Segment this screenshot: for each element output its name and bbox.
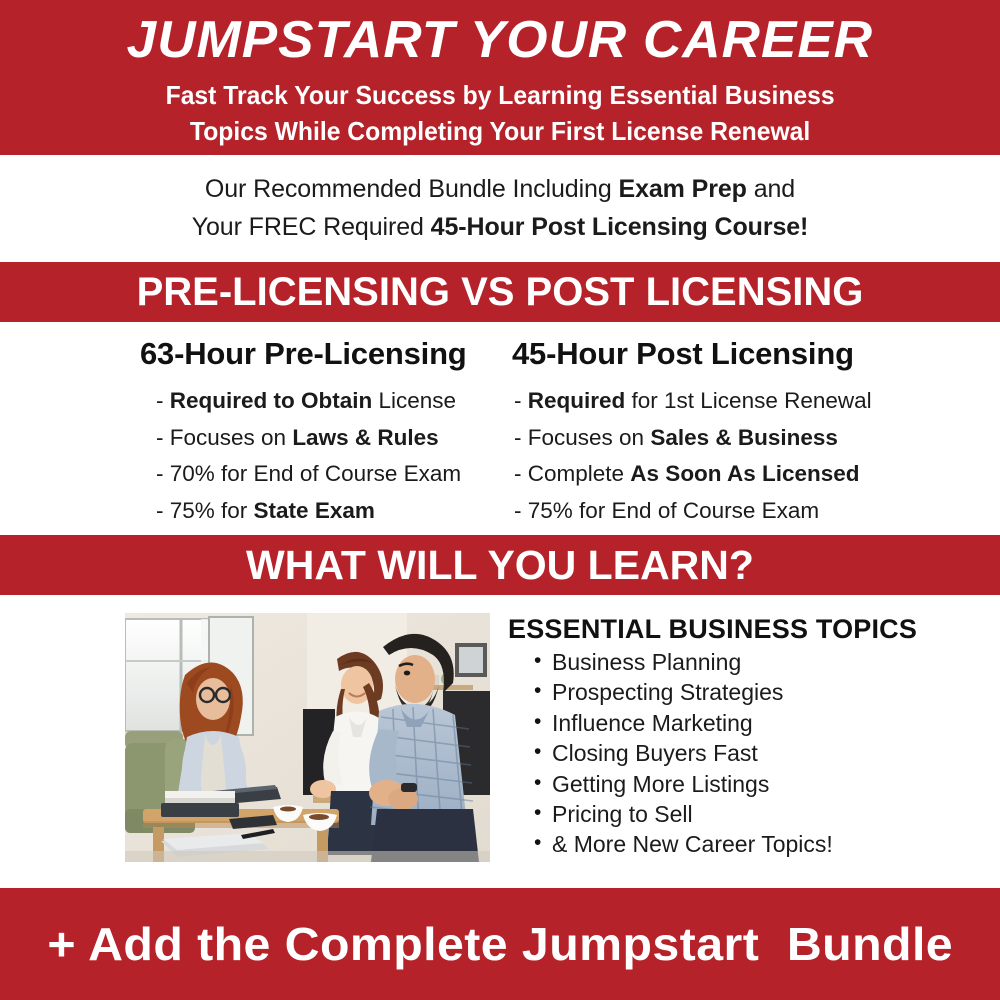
list-item: & More New Career Topics! bbox=[534, 829, 833, 859]
topics-list: Business Planning Prospecting Strategies… bbox=[534, 647, 833, 860]
item-bold: Laws & Rules bbox=[292, 425, 438, 450]
infographic-page: JUMPSTART YOUR CAREER Fast Track Your Su… bbox=[0, 0, 1000, 1000]
intro-line-2: Your FREC Required 45-Hour Post Licensin… bbox=[192, 209, 809, 247]
bundle-banner-label: + Add the Complete Jumpstart Bundle bbox=[47, 917, 953, 971]
intro-line-2-pre: Your FREC Required bbox=[192, 213, 431, 241]
list-item: Prospecting Strategies bbox=[534, 677, 833, 707]
list-item: Closing Buyers Fast bbox=[534, 738, 833, 768]
list-item: Pricing to Sell bbox=[534, 799, 833, 829]
intro-line-1-post: and bbox=[747, 175, 795, 203]
item-prefix: - bbox=[514, 388, 528, 413]
hero-banner: JUMPSTART YOUR CAREER Fast Track Your Su… bbox=[0, 0, 1000, 155]
intro-line-1-pre: Our Recommended Bundle Including bbox=[205, 175, 619, 203]
meeting-photo-illustration bbox=[125, 613, 490, 862]
learn-banner-label: WHAT WILL YOU LEARN? bbox=[246, 542, 754, 589]
item-prefix: - Focuses on bbox=[156, 425, 292, 450]
item-bold: State Exam bbox=[254, 498, 375, 523]
list-item: - 70% for End of Course Exam bbox=[156, 456, 490, 493]
list-item: Getting More Listings bbox=[534, 769, 833, 799]
bundle-banner: + Add the Complete Jumpstart Bundle bbox=[0, 888, 1000, 1000]
intro-line-2-bold: 45-Hour Post Licensing Course! bbox=[431, 213, 809, 241]
list-item: - Complete As Soon As Licensed bbox=[514, 456, 1000, 493]
list-item: - Focuses on Laws & Rules bbox=[156, 420, 490, 457]
list-item: - 75% for State Exam bbox=[156, 493, 490, 530]
item-suffix: for 1st License Renewal bbox=[625, 388, 871, 413]
hero-subtitle-line-1: Fast Track Your Success by Learning Esse… bbox=[165, 78, 834, 113]
hero-title: JUMPSTART YOUR CAREER bbox=[127, 14, 873, 66]
learn-section: ESSENTIAL BUSINESS TOPICS Business Plann… bbox=[0, 595, 1000, 888]
list-item: - Required to Obtain License bbox=[156, 383, 490, 420]
item-bold: Required to Obtain bbox=[170, 388, 373, 413]
list-item: - Focuses on Sales & Business bbox=[514, 420, 1000, 457]
compare-banner: PRE-LICENSING VS POST LICENSING bbox=[0, 262, 1000, 322]
list-item: - 75% for End of Course Exam bbox=[514, 493, 1000, 530]
learn-banner: WHAT WILL YOU LEARN? bbox=[0, 535, 1000, 595]
item-prefix: - 75% for End of Course Exam bbox=[514, 498, 819, 523]
list-item: Business Planning bbox=[534, 647, 833, 677]
list-item: - Required for 1st License Renewal bbox=[514, 383, 1000, 420]
pre-licensing-list: - Required to Obtain License - Focuses o… bbox=[138, 383, 490, 530]
meeting-photo bbox=[125, 613, 490, 862]
item-suffix: License bbox=[372, 388, 456, 413]
post-licensing-column: 45-Hour Post Licensing - Required for 1s… bbox=[490, 322, 1000, 535]
item-bold: Required bbox=[528, 388, 626, 413]
intro-line-1: Our Recommended Bundle Including Exam Pr… bbox=[205, 171, 795, 209]
item-bold: Sales & Business bbox=[650, 425, 838, 450]
list-item: Influence Marketing bbox=[534, 708, 833, 738]
item-prefix: - bbox=[156, 388, 170, 413]
item-prefix: - Focuses on bbox=[514, 425, 650, 450]
intro-line-1-bold: Exam Prep bbox=[619, 175, 747, 203]
item-prefix: - Complete bbox=[514, 461, 630, 486]
item-prefix: - 70% for End of Course Exam bbox=[156, 461, 461, 486]
pre-licensing-column: 63-Hour Pre-Licensing - Required to Obta… bbox=[0, 322, 490, 535]
topics-heading: ESSENTIAL BUSINESS TOPICS bbox=[508, 614, 917, 645]
intro-block: Our Recommended Bundle Including Exam Pr… bbox=[0, 155, 1000, 262]
item-prefix: - 75% for bbox=[156, 498, 254, 523]
post-licensing-heading: 45-Hour Post Licensing bbox=[512, 336, 1000, 372]
compare-banner-label: PRE-LICENSING VS POST LICENSING bbox=[137, 270, 864, 315]
hero-subtitle: Fast Track Your Success by Learning Esse… bbox=[165, 78, 834, 148]
comparison-section: 63-Hour Pre-Licensing - Required to Obta… bbox=[0, 322, 1000, 535]
pre-licensing-heading: 63-Hour Pre-Licensing bbox=[140, 336, 490, 372]
hero-subtitle-line-2: Topics While Completing Your First Licen… bbox=[165, 114, 834, 149]
item-bold: As Soon As Licensed bbox=[630, 461, 859, 486]
